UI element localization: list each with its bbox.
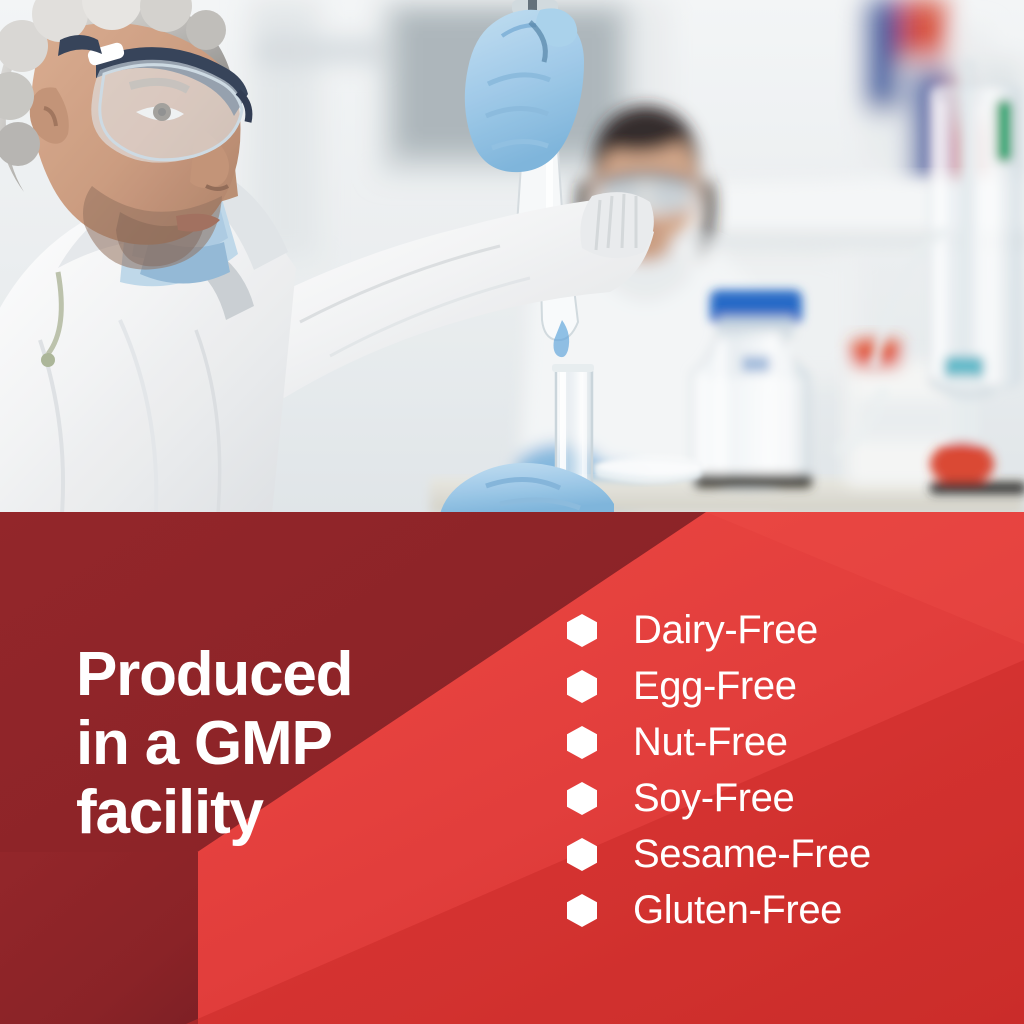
- list-item-label: Nut-Free: [633, 720, 788, 764]
- hexagon-bullet-icon: [567, 726, 597, 759]
- hexagon-bullet-icon: [567, 614, 597, 647]
- list-item: Dairy-Free: [567, 602, 997, 658]
- list-item-label: Egg-Free: [633, 664, 797, 708]
- hexagon-bullet-icon: [567, 894, 597, 927]
- promotional-poster: Produced in a GMP facility Dairy-Free Eg…: [0, 0, 1024, 1024]
- list-item: Soy-Free: [567, 770, 997, 826]
- list-item-label: Soy-Free: [633, 776, 794, 820]
- laboratory-photo: [0, 0, 1024, 514]
- page-title: Produced in a GMP facility: [76, 640, 476, 847]
- list-item: Egg-Free: [567, 658, 997, 714]
- hexagon-bullet-icon: [567, 670, 597, 703]
- list-item: Nut-Free: [567, 714, 997, 770]
- list-item-label: Gluten-Free: [633, 888, 842, 932]
- hexagon-bullet-icon: [567, 838, 597, 871]
- red-info-panel: Produced in a GMP facility Dairy-Free Eg…: [0, 512, 1024, 1024]
- list-item: Sesame-Free: [567, 826, 997, 882]
- list-item: Gluten-Free: [567, 882, 997, 938]
- benefits-list: Dairy-Free Egg-Free Nut-Free Soy-Free: [567, 602, 997, 938]
- list-item-label: Dairy-Free: [633, 608, 818, 652]
- list-item-label: Sesame-Free: [633, 832, 871, 876]
- hexagon-bullet-icon: [567, 782, 597, 815]
